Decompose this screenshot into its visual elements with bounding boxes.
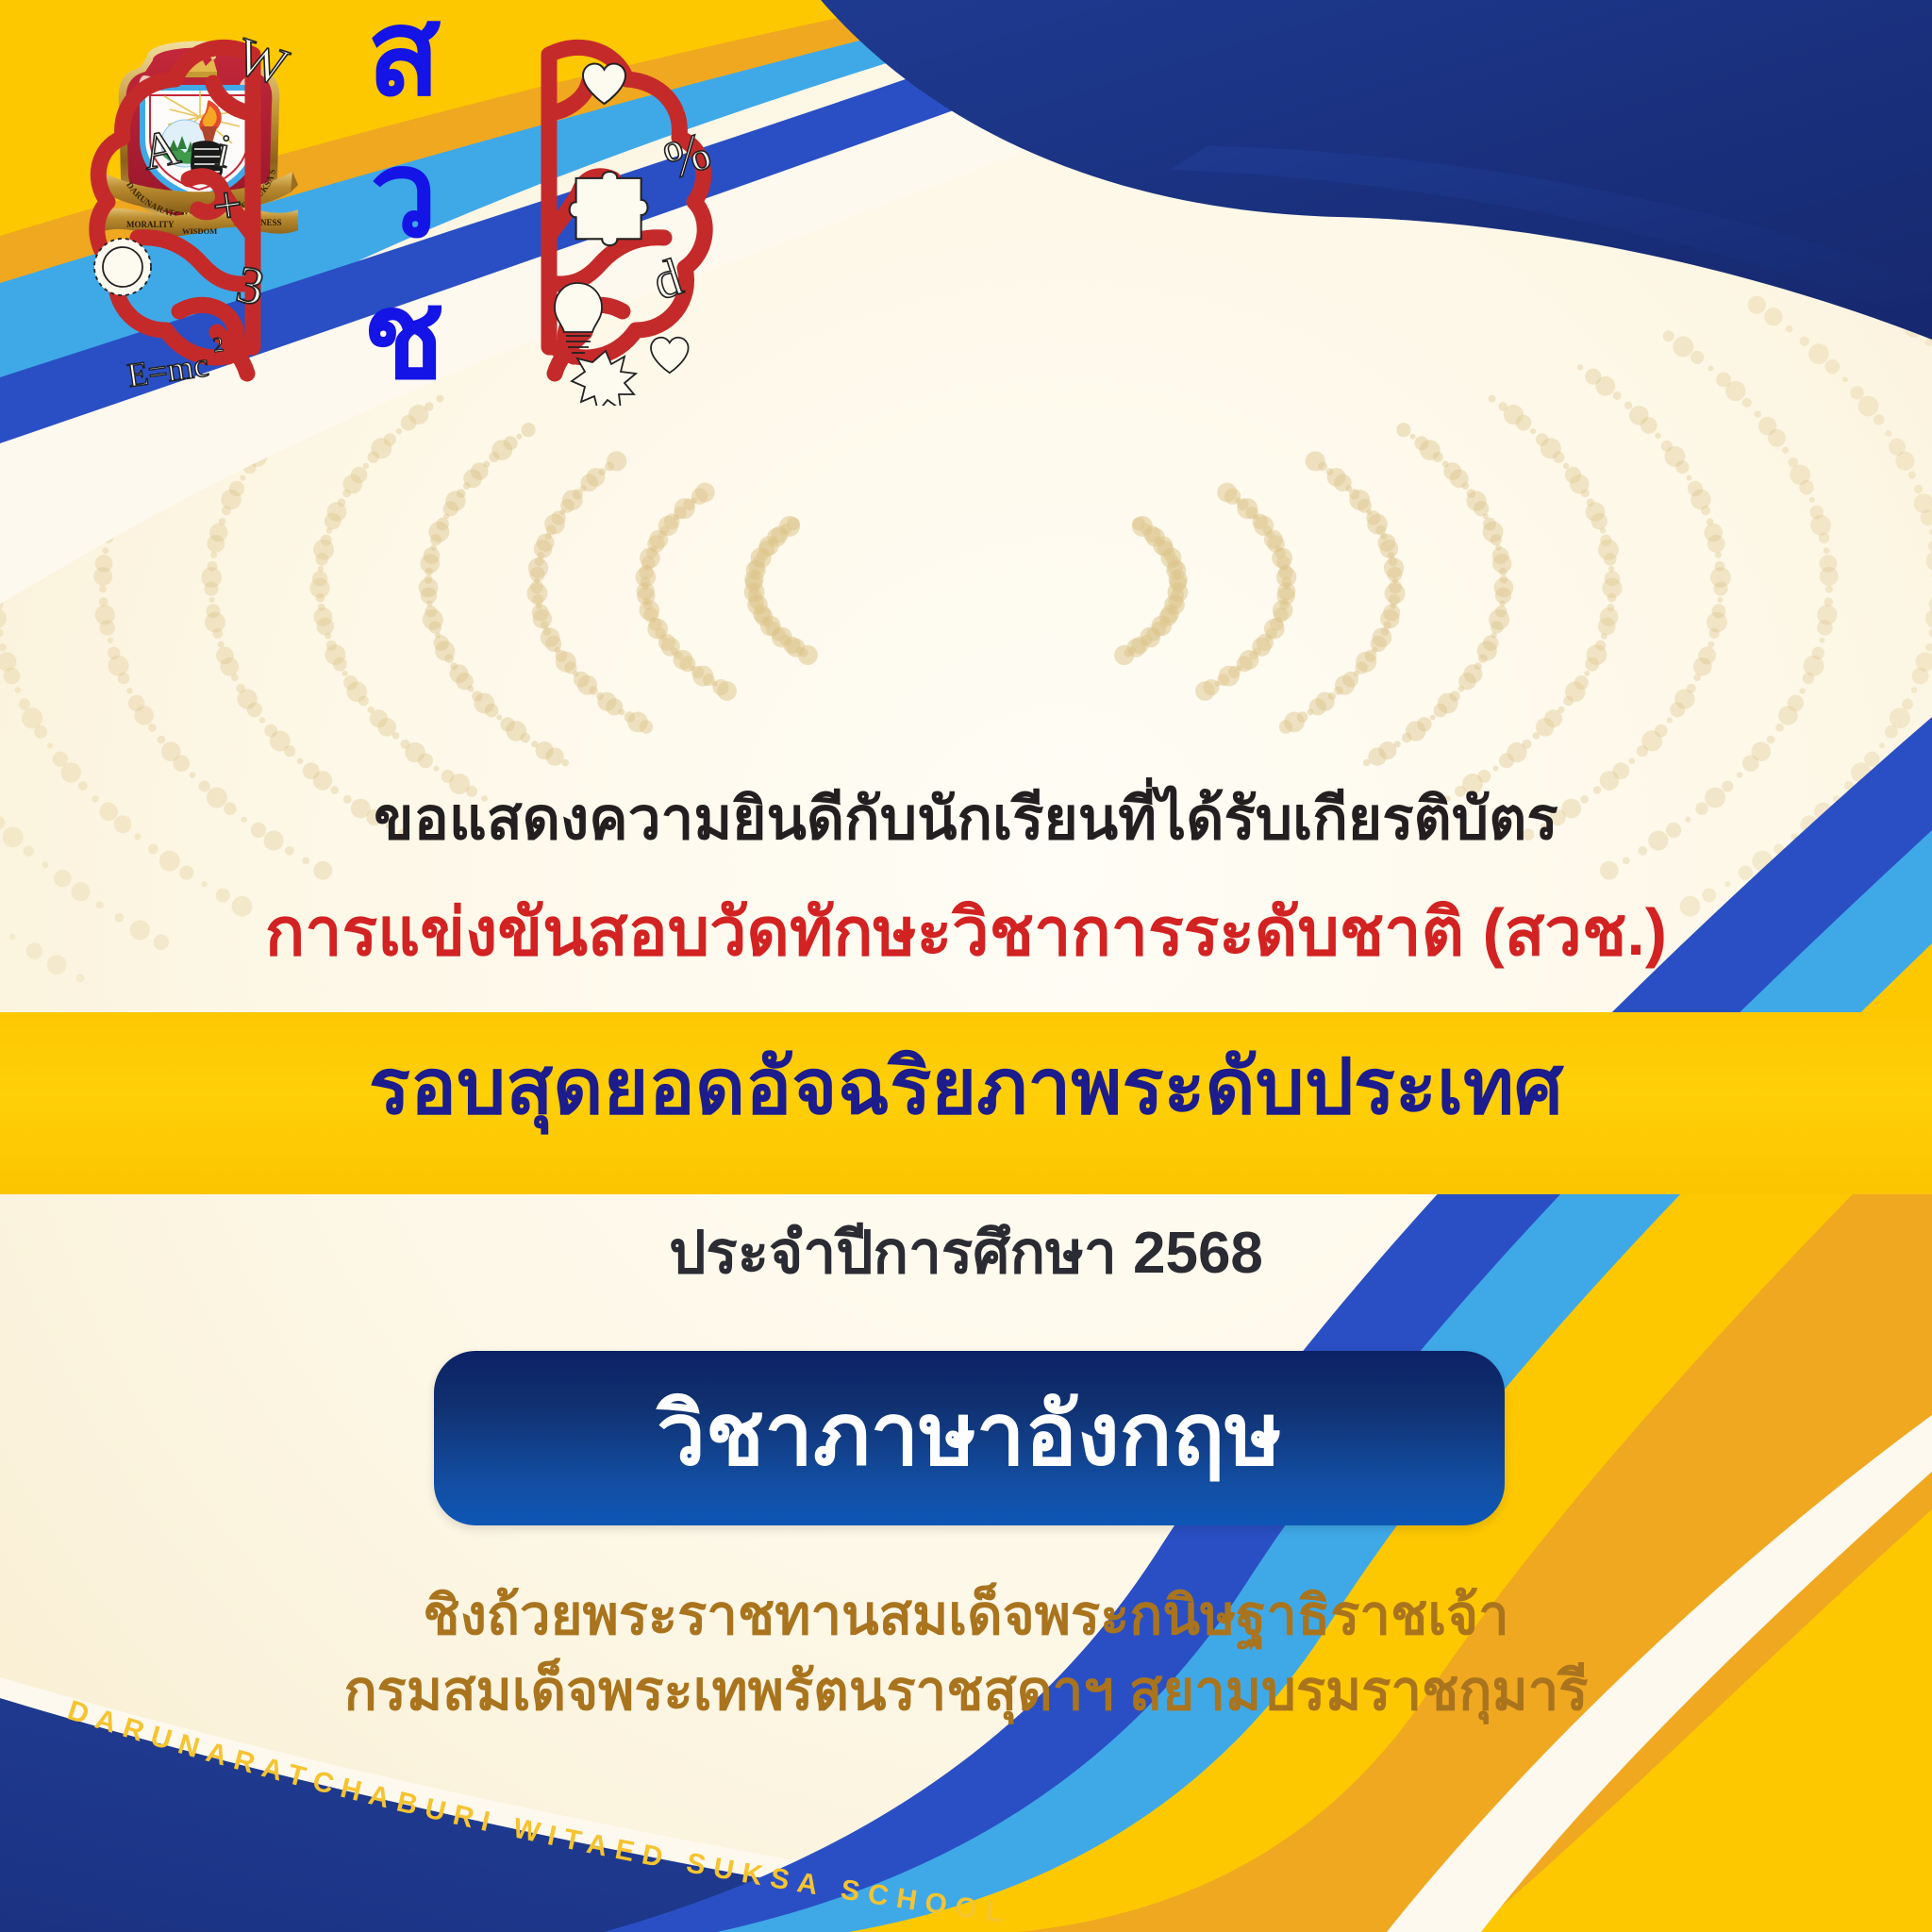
footer-school-name: DARUNARATCHABURI WITAED SUKSA SCHOOL [0,1689,1321,1932]
trophy-line-1: ชิงถ้วยพระราชทานสมเด็จพระกนิษฐาธิราชเจ้า [0,1587,1932,1646]
symbol-plus: + [208,175,246,237]
symbol-3: 3 [231,255,269,317]
letter-so: ส [367,0,441,121]
symbol-emc2: E=mc [125,345,211,394]
final-round-text: รอบสุดยอดอัจฉริยภาพระดับประเทศ [0,1047,1932,1128]
heart-icon-bottom [651,338,689,373]
symbol-i: i [212,124,236,178]
burst-icon [572,351,636,406]
subject-badge: วิชาภาษาอังกฤษ [434,1351,1505,1525]
letter-cho: ช [363,269,445,404]
congratulations-line: ขอแสดงความยินดีกับนักเรียนที่ได้รับเกียร… [0,789,1932,850]
gear-icon [94,239,151,295]
academic-year-line: ประจำปีการศึกษา 2568 [0,1223,1932,1284]
svg-text:DARUNARATCHABURI WITAED SUKSA: DARUNARATCHABURI WITAED SUKSA SCHOOL [64,1694,1013,1929]
puzzle-icon [570,172,648,245]
poster-canvas: DARUNARATCHABURI WITAED SUKSA SCHOOL MOR… [0,0,1932,1932]
symbol-W: W [229,26,295,97]
brain-center-letters: ส ว ช [363,0,445,404]
footer-school-name-text: DARUNARATCHABURI WITAED SUKSA SCHOOL [64,1694,1013,1929]
symbol-A: A [137,118,185,181]
contest-name-line: การแข่งขันสอบวัดทักษะวิชาการระดับชาติ (ส… [0,898,1932,968]
subject-label: วิชาภาษาอังกฤษ [657,1391,1282,1478]
letter-wo: ว [370,127,438,262]
brain-illustration: W A i + 3 E=mc 2 % d [0,0,981,406]
